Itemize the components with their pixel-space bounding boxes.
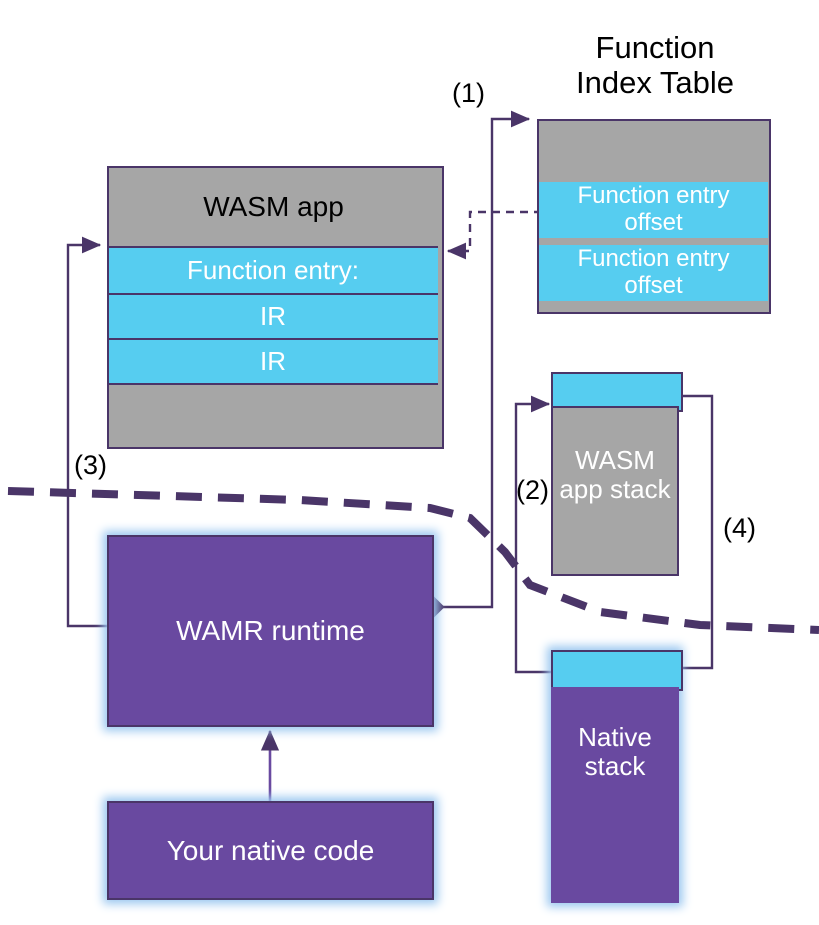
function-index-entry-row-2[interactable]: Function entry offset — [539, 245, 768, 301]
connector-step1 — [434, 119, 529, 607]
wasm-app-stack-body: WASM app stack — [551, 406, 679, 576]
step-label-2: (2) — [516, 477, 549, 504]
wasm-app-row-function-entry[interactable]: Function entry: — [109, 246, 438, 295]
function-index-table-box: Function entry offset Function entry off… — [537, 119, 771, 314]
step-label-1: (1) — [452, 80, 485, 107]
your-native-code-box[interactable]: Your native code — [107, 801, 434, 900]
function-index-table-title: Function Index Table — [530, 30, 780, 101]
function-index-entry-row-1[interactable]: Function entry offset — [539, 182, 768, 238]
wamr-runtime-box[interactable]: WAMR runtime — [107, 535, 434, 727]
wasm-app-row-ir-2[interactable]: IR — [109, 340, 438, 385]
diagram-canvas: Function Index Table (1) (2) (3) (4) Fun… — [0, 0, 819, 925]
native-stack-top-band[interactable] — [551, 650, 683, 691]
wasm-app-stack-box: WASM app stack — [551, 372, 679, 576]
connector-step3 — [68, 245, 108, 626]
step-label-4: (4) — [723, 515, 756, 542]
native-stack-body: Native stack — [551, 687, 679, 903]
wasm-app-box: Function entry: IR IR WASM app — [107, 166, 444, 449]
step-label-3: (3) — [74, 452, 107, 479]
native-stack-box: Native stack — [551, 650, 679, 903]
wasm-app-header-label: WASM app — [109, 172, 438, 242]
wasm-app-row-ir-1[interactable]: IR — [109, 295, 438, 340]
